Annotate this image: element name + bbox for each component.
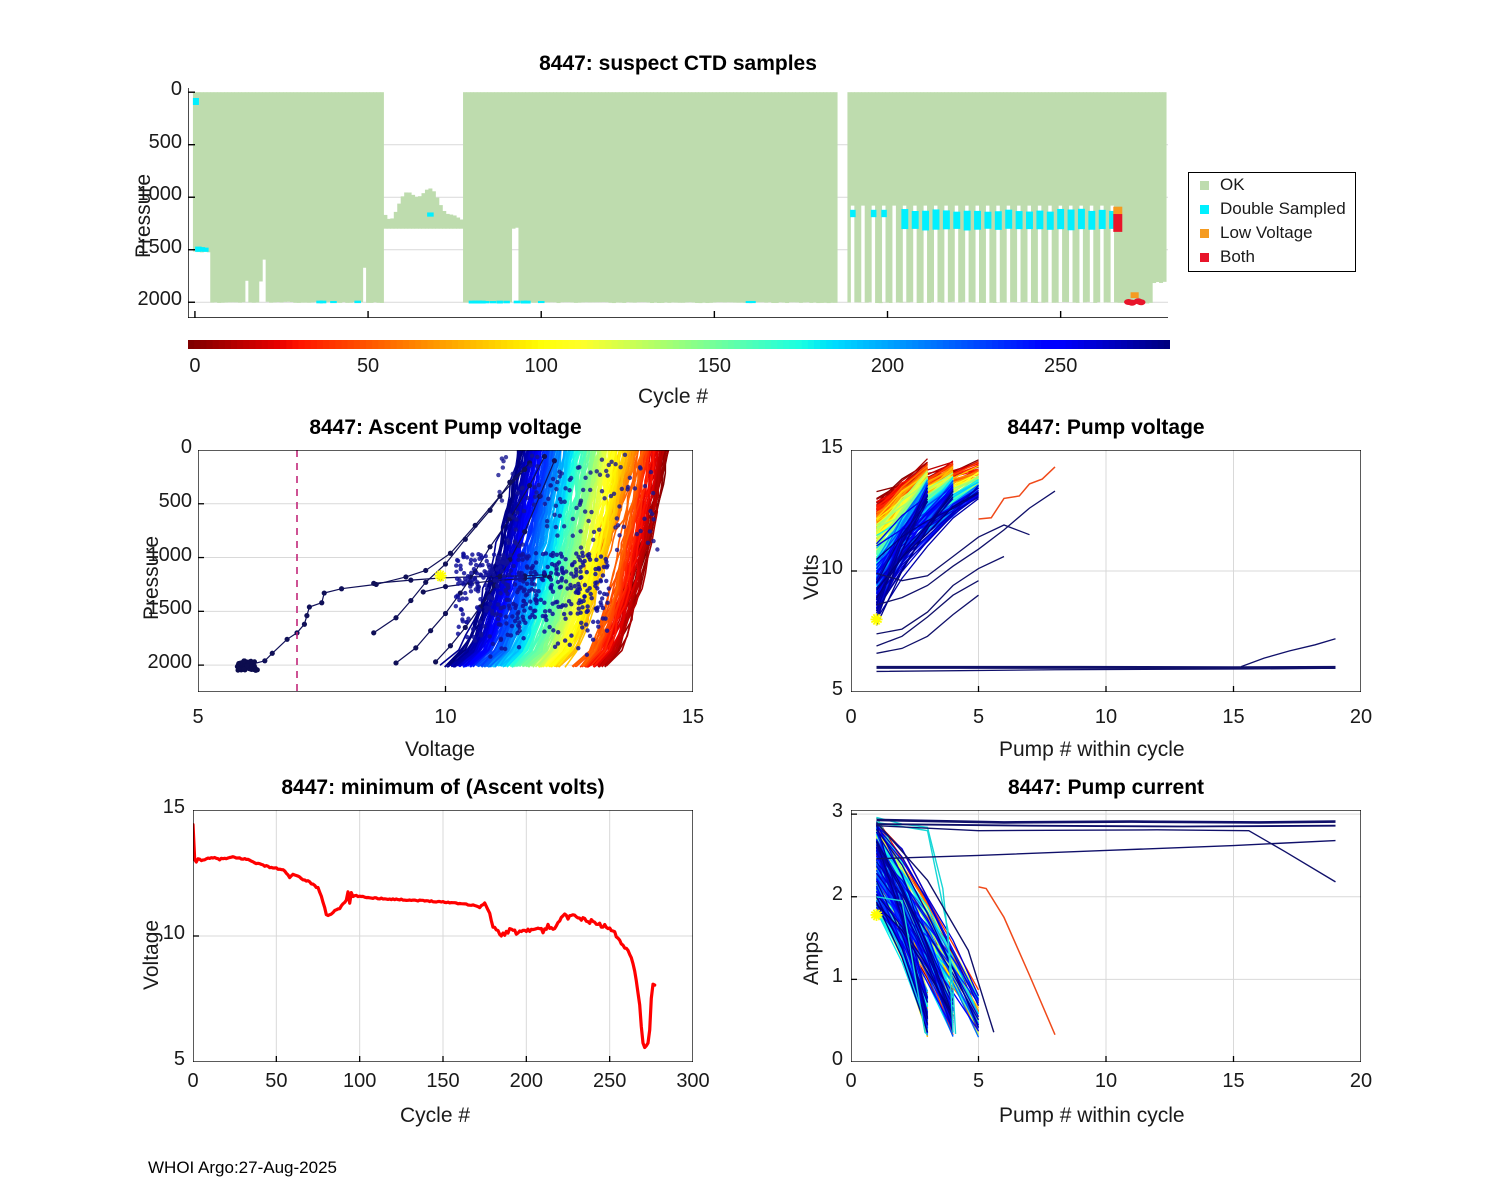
- xtick-pumpcurr-15: 15: [1209, 1070, 1259, 1093]
- xtick-ctd-50: 50: [338, 355, 398, 378]
- min-volts-plot-area: [193, 810, 693, 1062]
- legend-item-both[interactable]: Both: [1189, 245, 1355, 269]
- xtick-pumpcurr-0: 0: [826, 1070, 876, 1093]
- panel-pump-voltage: 8447: Pump voltage: [851, 450, 1361, 692]
- ytick-ctd-1500: 1500: [118, 236, 182, 259]
- xtick-minvolts-150: 150: [415, 1070, 471, 1093]
- panel-title-pumpvolt: 8447: Pump voltage: [851, 416, 1361, 440]
- xtick-ctd-100: 100: [511, 355, 571, 378]
- xtick-ascent-10: 10: [421, 706, 471, 729]
- legend-swatch-icon: [1200, 253, 1209, 262]
- ytick-pumpcurr-0: 0: [783, 1048, 843, 1071]
- xtick-ctd-250: 250: [1031, 355, 1091, 378]
- ytick-minvolts-5: 5: [125, 1048, 185, 1071]
- xtick-ascent-15: 15: [668, 706, 718, 729]
- ytick-minvolts-10: 10: [125, 922, 185, 945]
- xtick-pumpvolt-10: 10: [1081, 706, 1131, 729]
- ytick-ascent-1500: 1500: [128, 597, 192, 620]
- ytick-ctd-0: 0: [118, 78, 182, 101]
- legend-item-double-sampled[interactable]: Double Sampled: [1189, 197, 1355, 221]
- xtick-minvolts-250: 250: [582, 1070, 638, 1093]
- legend-swatch-icon: [1200, 205, 1209, 214]
- panel-title-minvolts: 8447: minimum of (Ascent volts): [193, 776, 693, 800]
- xtick-ctd-0: 0: [165, 355, 225, 378]
- xtick-pumpvolt-20: 20: [1336, 706, 1386, 729]
- panel-title-ascent: 8447: Ascent Pump voltage: [198, 416, 693, 440]
- panel-pump-current: 8447: Pump current: [851, 810, 1361, 1062]
- xlabel-pump-num-volt: Pump # within cycle: [999, 738, 1185, 762]
- ytick-ascent-0: 0: [128, 436, 192, 459]
- xtick-ctd-200: 200: [858, 355, 918, 378]
- panel-ascent-pump-voltage: 8447: Ascent Pump voltage: [198, 450, 693, 692]
- ytick-ascent-2000: 2000: [128, 651, 192, 674]
- pump-current-plot-area: [851, 810, 1361, 1062]
- xtick-pumpcurr-5: 5: [954, 1070, 1004, 1093]
- xtick-ctd-150: 150: [684, 355, 744, 378]
- xtick-pumpvolt-15: 15: [1209, 706, 1259, 729]
- xlabel-cycle-min: Cycle #: [400, 1104, 470, 1128]
- legend-swatch-icon: [1200, 229, 1209, 238]
- ytick-pumpcurr-2: 2: [783, 883, 843, 906]
- ytick-minvolts-15: 15: [125, 796, 185, 819]
- ytick-pumpcurr-1: 1: [783, 965, 843, 988]
- legend-item-ok[interactable]: OK: [1189, 173, 1355, 197]
- legend-label: Low Voltage: [1220, 223, 1313, 243]
- xlabel-cycle-ctd: Cycle #: [638, 385, 708, 409]
- xtick-minvolts-200: 200: [498, 1070, 554, 1093]
- xlabel-voltage-ascent: Voltage: [405, 738, 475, 762]
- xlabel-pump-num-curr: Pump # within cycle: [999, 1104, 1185, 1128]
- xtick-pumpvolt-5: 5: [954, 706, 1004, 729]
- panel-min-ascent-volts: 8447: minimum of (Ascent volts): [193, 810, 693, 1062]
- cycle-colorbar: [188, 337, 1170, 353]
- xtick-pumpcurr-20: 20: [1336, 1070, 1386, 1093]
- legend-label: Double Sampled: [1220, 199, 1346, 219]
- ytick-pumpvolt-10: 10: [783, 557, 843, 580]
- ctd-plot-area: [188, 88, 1168, 318]
- xtick-minvolts-50: 50: [248, 1070, 304, 1093]
- ytick-pumpvolt-5: 5: [783, 678, 843, 701]
- ytick-pumpcurr-3: 3: [783, 800, 843, 823]
- xtick-ascent-5: 5: [173, 706, 223, 729]
- figure-caption: WHOI Argo:27-Aug-2025: [148, 1158, 337, 1178]
- panel-title-pumpcurr: 8447: Pump current: [851, 776, 1361, 800]
- ytick-pumpvolt-15: 15: [783, 436, 843, 459]
- figure-canvas: 8447: suspect CTD samples Pressure Cycle…: [0, 0, 1500, 1200]
- ytick-ctd-500: 500: [118, 131, 182, 154]
- xtick-minvolts-100: 100: [332, 1070, 388, 1093]
- pump-voltage-plot-area: [851, 450, 1361, 692]
- panel-suspect-ctd-samples: 8447: suspect CTD samples: [188, 88, 1168, 318]
- ytick-ctd-2000: 2000: [118, 288, 182, 311]
- xtick-minvolts-0: 0: [165, 1070, 221, 1093]
- legend-swatch-icon: [1200, 181, 1209, 190]
- xtick-pumpvolt-0: 0: [826, 706, 876, 729]
- legend-label: Both: [1220, 247, 1255, 267]
- legend-item-low-voltage[interactable]: Low Voltage: [1189, 221, 1355, 245]
- panel-title-ctd: 8447: suspect CTD samples: [188, 52, 1168, 76]
- ytick-ascent-500: 500: [128, 490, 192, 513]
- ascent-plot-area: [198, 450, 693, 692]
- ytick-ctd-1000: 1000: [118, 183, 182, 206]
- xtick-pumpcurr-10: 10: [1081, 1070, 1131, 1093]
- ytick-ascent-1000: 1000: [128, 544, 192, 567]
- xtick-minvolts-300: 300: [665, 1070, 721, 1093]
- legend-label: OK: [1220, 175, 1245, 195]
- legend-ctd: OKDouble SampledLow VoltageBoth: [1188, 172, 1356, 272]
